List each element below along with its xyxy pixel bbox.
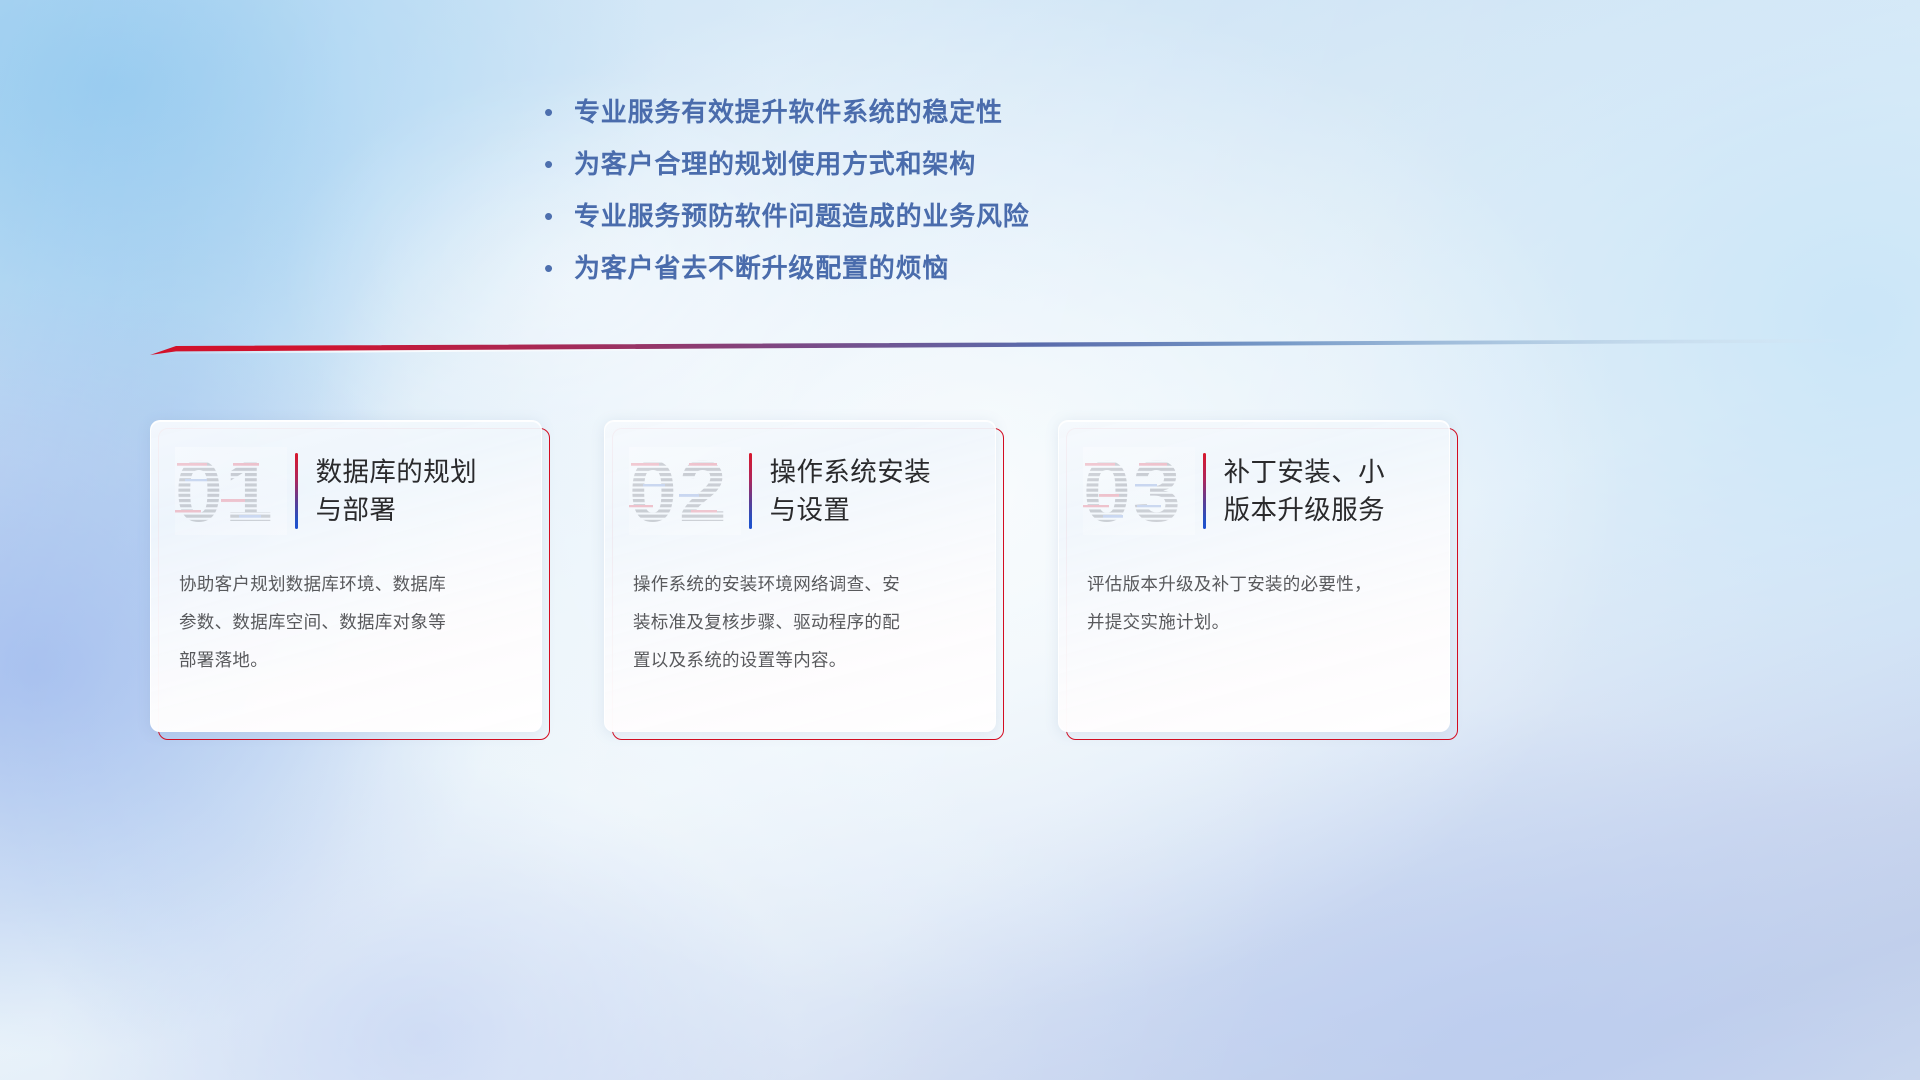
benefits-bullet-list: • 专业服务有效提升软件系统的稳定性 • 为客户合理的规划使用方式和架构 • 专… [540,86,1640,294]
service-card[interactable]: 01 数据库的规划 与部署 [150,420,542,740]
card-number-striped-03: 03 [1083,447,1195,535]
section-divider-rule [150,336,1856,362]
bullet-dot-icon: • [540,86,574,138]
service-card[interactable]: 03 补丁安 [1058,420,1450,740]
card-description: 操作系统的安装环境网络调查、安 装标准及复核步骤、驱动程序的配 置以及系统的设置… [605,565,995,679]
card-title: 操作系统安装 与设置 [770,453,931,529]
card-title: 补丁安装、小 版本升级服务 [1224,453,1385,529]
list-item: • 专业服务预防软件问题造成的业务风险 [540,190,1640,242]
card-accent-bar [295,453,298,529]
card-title: 数据库的规划 与部署 [316,453,477,529]
bullet-label: 专业服务预防软件问题造成的业务风险 [574,190,1030,242]
card-number-striped-02: 02 [629,447,741,535]
card-surface: 01 数据库的规划 与部署 [150,420,542,732]
card-description: 评估版本升级及补丁安装的必要性， 并提交实施计划。 [1059,565,1449,641]
card-accent-bar [1203,453,1206,529]
card-header: 01 数据库的规划 与部署 [151,421,541,561]
card-header: 03 补丁安 [1059,421,1449,561]
bullet-dot-icon: • [540,138,574,190]
card-surface: 02 操作系统安装 与设置 [604,420,996,732]
service-cards-row: 01 数据库的规划 与部署 [150,420,1790,740]
card-accent-bar [749,453,752,529]
list-item: • 为客户合理的规划使用方式和架构 [540,138,1640,190]
list-item: • 专业服务有效提升软件系统的稳定性 [540,86,1640,138]
card-description: 协助客户规划数据库环境、数据库 参数、数据库空间、数据库对象等 部署落地。 [151,565,541,679]
bullet-dot-icon: • [540,190,574,242]
card-header: 02 操作系统安装 与设置 [605,421,995,561]
service-card[interactable]: 02 操作系统安装 与设置 [604,420,996,740]
list-item: • 为客户省去不断升级配置的烦恼 [540,242,1640,294]
bullet-label: 为客户省去不断升级配置的烦恼 [574,242,949,294]
bullet-dot-icon: • [540,242,574,294]
bullet-label: 专业服务有效提升软件系统的稳定性 [574,86,1003,138]
slide-root: • 专业服务有效提升软件系统的稳定性 • 为客户合理的规划使用方式和架构 • 专… [0,0,1920,1080]
card-number-striped-01: 01 [175,447,287,535]
bullet-label: 为客户合理的规划使用方式和架构 [574,138,976,190]
card-surface: 03 补丁安 [1058,420,1450,732]
